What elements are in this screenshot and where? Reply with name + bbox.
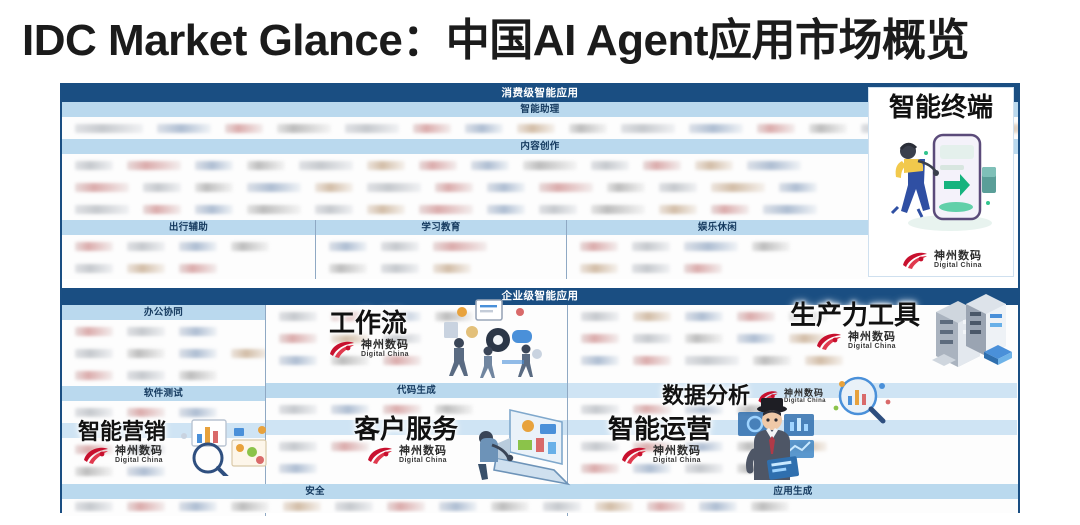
callout-productivity: 生产力工具 神州数码 Digital China xyxy=(790,302,920,351)
vendor-logo xyxy=(539,205,577,214)
brand-name-en: Digital China xyxy=(399,457,447,464)
bottom-bar-app-gen-wrap: 应用生成 xyxy=(568,484,1018,499)
logo-row xyxy=(62,342,265,364)
vendor-logo xyxy=(127,349,165,358)
vendor-logo xyxy=(752,242,790,251)
logo-row xyxy=(266,305,567,327)
vendor-logo xyxy=(491,502,529,511)
section-header-entertainment: 娱乐休闲 xyxy=(567,220,868,235)
digital-china-logo: 神州数码 Digital China xyxy=(327,339,409,359)
vendor-logo xyxy=(581,334,619,343)
vendor-logo xyxy=(331,405,369,414)
logo-band-travel xyxy=(62,235,315,279)
consumer-column-entertainment: 娱乐休闲 xyxy=(566,220,868,279)
vendor-logo xyxy=(279,334,317,343)
vendor-logo xyxy=(247,161,285,170)
vendor-logo xyxy=(581,312,619,321)
vendor-logo xyxy=(689,124,743,133)
vendor-logo xyxy=(75,408,113,417)
vendor-logo xyxy=(247,205,301,214)
brand-name-cn: 神州数码 xyxy=(934,251,982,262)
vendor-logo xyxy=(632,242,670,251)
vendor-logo xyxy=(329,264,367,273)
logo-row xyxy=(316,257,566,279)
vendor-logo xyxy=(684,264,722,273)
section-header-education: 学习教育 xyxy=(316,220,566,235)
logo-band-entertainment xyxy=(567,235,868,279)
vendor-logo xyxy=(523,161,577,170)
vendor-logo xyxy=(75,124,143,133)
vendor-logo xyxy=(757,124,795,133)
digital-china-logo: 神州数码 Digital China xyxy=(900,250,982,270)
logo-band-workflow xyxy=(266,305,567,383)
vendor-logo xyxy=(367,161,405,170)
consumer-group: 消费级智能应用 智能助理 xyxy=(62,85,1018,283)
vendor-logo xyxy=(127,502,165,511)
section-header-travel: 出行辅助 xyxy=(62,220,315,235)
digital-china-logo: 神州数码 Digital China xyxy=(81,445,163,465)
vendor-logo xyxy=(75,502,113,511)
vendor-logo xyxy=(383,405,421,414)
vendor-logo xyxy=(179,264,217,273)
vendor-logo xyxy=(779,183,817,192)
vendor-logo xyxy=(75,242,113,251)
vendor-logo xyxy=(75,161,113,170)
vendor-logo xyxy=(279,312,317,321)
vendor-logo xyxy=(231,502,269,511)
vendor-logo xyxy=(367,183,421,192)
vendor-logo xyxy=(179,502,217,511)
vendor-logo xyxy=(279,464,317,473)
vendor-logo xyxy=(75,327,113,336)
digital-china-mark-icon xyxy=(814,331,844,351)
vendor-logo xyxy=(75,467,113,476)
digital-china-mark-icon xyxy=(365,445,395,465)
vendor-logo xyxy=(595,502,633,511)
vendor-logo xyxy=(195,183,233,192)
vendor-logo xyxy=(580,242,618,251)
section-header-security: 安全 xyxy=(62,484,568,499)
digital-china-mark-icon xyxy=(619,445,649,465)
brand-name-en: Digital China xyxy=(653,457,701,464)
section-header-code-generation: 代码生成 xyxy=(266,383,567,398)
logo-band-bottom xyxy=(62,499,1018,513)
vendor-logo xyxy=(127,467,165,476)
logo-row xyxy=(316,235,566,257)
vendor-logo xyxy=(419,161,457,170)
vendor-logo xyxy=(179,371,217,380)
vendor-logo xyxy=(75,205,129,214)
brand-name-cn: 神州数码 xyxy=(399,446,447,457)
digital-china-mark-icon xyxy=(327,339,357,359)
enterprise-group: 企业级智能应用 办公协同 xyxy=(62,288,1018,513)
vendor-logo xyxy=(433,242,487,251)
vendor-logo xyxy=(659,183,697,192)
vendor-logo xyxy=(591,205,645,214)
vendor-logo xyxy=(711,183,765,192)
vendor-logo xyxy=(231,349,265,358)
vendor-logo xyxy=(580,264,618,273)
digital-china-wordmark: 神州数码 Digital China xyxy=(848,332,896,350)
digital-china-mark-icon xyxy=(900,250,930,270)
vendor-logo xyxy=(315,183,353,192)
vendor-logo xyxy=(315,205,353,214)
brand-name-en: Digital China xyxy=(934,262,982,269)
callout-smart-operations: 智能运营 神州数码 Digital China xyxy=(608,416,712,465)
vendor-logo xyxy=(435,312,473,321)
vendor-logo xyxy=(75,371,113,380)
logo-row xyxy=(266,327,567,349)
vendor-logo xyxy=(699,502,737,511)
consumer-column-education: 学习教育 xyxy=(315,220,566,279)
vendor-logo xyxy=(591,161,629,170)
vendor-logo xyxy=(179,327,217,336)
callout-panel-smart-terminal: 智能终端 xyxy=(868,87,1014,277)
callout-label-smart-marketing: 智能营销 xyxy=(78,420,166,443)
digital-china-logo: 神州数码 Digital China xyxy=(814,331,896,351)
brand-name-cn: 神州数码 xyxy=(784,389,826,398)
vendor-logo xyxy=(439,502,477,511)
vendor-logo xyxy=(127,327,165,336)
vendor-logo xyxy=(195,161,233,170)
brand-name-cn: 神州数码 xyxy=(361,340,409,351)
vendor-logo xyxy=(435,405,473,414)
logo-band-office-collab xyxy=(62,320,265,386)
logo-row xyxy=(62,235,315,257)
vendor-logo xyxy=(75,183,129,192)
callout-smart-marketing: 智能营销 神州数码 Digital China xyxy=(78,420,166,465)
section-header-software-testing: 软件测试 xyxy=(62,386,265,401)
vendor-logo xyxy=(685,334,723,343)
vendor-logo xyxy=(127,408,165,417)
vendor-logo xyxy=(179,242,217,251)
logo-row xyxy=(568,349,1017,371)
vendor-logo xyxy=(633,312,671,321)
logo-row xyxy=(266,349,567,371)
vendor-logo xyxy=(633,334,671,343)
digital-china-logo: 神州数码 Digital China xyxy=(756,389,826,405)
vendor-logo xyxy=(247,183,301,192)
digital-china-wordmark: 神州数码 Digital China xyxy=(653,446,701,464)
vendor-logo xyxy=(753,356,791,365)
vendor-logo xyxy=(127,161,181,170)
vendor-logo xyxy=(179,349,217,358)
vendor-logo xyxy=(581,356,619,365)
vendor-logo xyxy=(433,264,471,273)
vendor-logo xyxy=(647,502,685,511)
logo-row xyxy=(567,257,868,279)
vendor-logo xyxy=(127,242,165,251)
vendor-logo xyxy=(435,183,473,192)
logo-row xyxy=(62,364,265,386)
digital-china-logo: 神州数码 Digital China xyxy=(365,445,447,465)
vendor-logo xyxy=(387,502,425,511)
vendor-logo xyxy=(465,124,503,133)
digital-china-logo: 神州数码 Digital China xyxy=(619,445,701,465)
vendor-logo xyxy=(581,405,619,414)
vendor-logo xyxy=(751,502,789,511)
vendor-logo xyxy=(283,502,321,511)
vendor-logo xyxy=(157,124,211,133)
vendor-logo xyxy=(75,349,113,358)
person-phone-illustration xyxy=(878,123,1004,235)
page-title: IDC Market Glance：中国AI Agent应用市场概览 xyxy=(22,12,1062,70)
callout-label-smart-terminal: 智能终端 xyxy=(889,94,993,121)
callout-label-data-analysis: 数据分析 xyxy=(662,384,750,407)
brand-name-en: Digital China xyxy=(361,351,409,358)
vendor-logo xyxy=(381,264,419,273)
vendor-logo xyxy=(695,161,733,170)
slide-canvas: IDC Market Glance：中国AI Agent应用市场概览 消费级智能… xyxy=(0,0,1080,525)
vendor-logo xyxy=(659,205,697,214)
enterprise-bottom-bars: 安全 应用生成 xyxy=(62,484,1018,499)
vendor-logo xyxy=(471,161,509,170)
vendor-logo xyxy=(231,242,269,251)
vendor-logo xyxy=(195,205,233,214)
vendor-logo xyxy=(737,442,775,451)
section-header-app-generation: 应用生成 xyxy=(568,484,1018,499)
brand-name-cn: 神州数码 xyxy=(848,332,896,343)
digital-china-wordmark: 神州数码 Digital China xyxy=(115,446,163,464)
vendor-logo xyxy=(487,205,525,214)
vendor-logo xyxy=(747,161,801,170)
vendor-logo xyxy=(685,312,723,321)
vendor-logo xyxy=(763,205,817,214)
vendor-logo xyxy=(127,371,165,380)
callout-workflow: 工作流 神州数码 Digital China xyxy=(327,310,409,359)
callout-label-productivity: 生产力工具 xyxy=(790,302,920,329)
brand-name-en: Digital China xyxy=(848,343,896,350)
vendor-logo xyxy=(279,405,317,414)
vendor-logo xyxy=(413,124,451,133)
market-glance-chart: 消费级智能应用 智能助理 xyxy=(60,83,1020,513)
logo-row xyxy=(62,499,1018,513)
logo-row xyxy=(62,257,315,279)
vendor-logo xyxy=(75,264,113,273)
vendor-logo xyxy=(789,442,827,451)
vendor-logo xyxy=(685,356,739,365)
vendor-logo xyxy=(279,442,317,451)
vendor-logo xyxy=(633,356,671,365)
vendor-logo xyxy=(345,124,399,133)
vendor-logo xyxy=(299,161,353,170)
logo-row xyxy=(567,235,868,257)
vendor-logo xyxy=(225,124,263,133)
vendor-logo xyxy=(517,124,555,133)
brand-name-en: Digital China xyxy=(115,457,163,464)
callout-data-analysis: 数据分析 神州数码 Digital China xyxy=(662,384,826,407)
callout-label-smart-operations: 智能运营 xyxy=(608,416,712,443)
brand-name-en: Digital China xyxy=(784,398,826,404)
brand-name-cn: 神州数码 xyxy=(653,446,701,457)
consumer-column-travel: 出行辅助 xyxy=(62,220,315,279)
callout-label-workflow: 工作流 xyxy=(329,310,407,337)
vendor-logo xyxy=(143,205,181,214)
vendor-logo xyxy=(179,408,217,417)
digital-china-mark-icon xyxy=(756,389,780,405)
vendor-logo xyxy=(381,242,419,251)
logo-band-education xyxy=(316,235,566,279)
vendor-logo xyxy=(143,183,181,192)
vendor-logo xyxy=(711,205,749,214)
digital-china-wordmark: 神州数码 Digital China xyxy=(399,446,447,464)
vendor-logo xyxy=(805,356,843,365)
vendor-logo xyxy=(127,264,165,273)
vendor-logo xyxy=(335,502,373,511)
vendor-logo xyxy=(543,502,581,511)
callout-customer-service: 客户服务 神州数码 Digital China xyxy=(354,416,458,465)
brand-name-cn: 神州数码 xyxy=(115,446,163,457)
vendor-logo xyxy=(737,464,775,473)
vendor-logo xyxy=(419,205,473,214)
logo-row xyxy=(62,320,265,342)
vendor-logo xyxy=(643,161,681,170)
vendor-logo xyxy=(737,312,775,321)
digital-china-wordmark: 神州数码 Digital China xyxy=(784,389,826,404)
vendor-logo xyxy=(329,242,367,251)
callout-label-customer-service: 客户服务 xyxy=(354,416,458,443)
vendor-logo xyxy=(684,242,738,251)
vendor-logo xyxy=(367,205,405,214)
vendor-logo xyxy=(632,264,670,273)
vendor-logo xyxy=(809,124,847,133)
digital-china-wordmark: 神州数码 Digital China xyxy=(934,251,982,269)
vendor-logo xyxy=(487,183,525,192)
vendor-logo xyxy=(621,124,675,133)
vendor-logo xyxy=(539,183,593,192)
vendor-logo xyxy=(277,124,331,133)
digital-china-mark-icon xyxy=(81,445,111,465)
vendor-logo xyxy=(279,356,317,365)
vendor-logo xyxy=(737,334,775,343)
vendor-logo xyxy=(607,183,645,192)
bottom-bar-security-wrap: 安全 xyxy=(62,484,568,499)
digital-china-wordmark: 神州数码 Digital China xyxy=(361,340,409,358)
vendor-logo xyxy=(569,124,607,133)
section-header-office-collab: 办公协同 xyxy=(62,305,265,320)
